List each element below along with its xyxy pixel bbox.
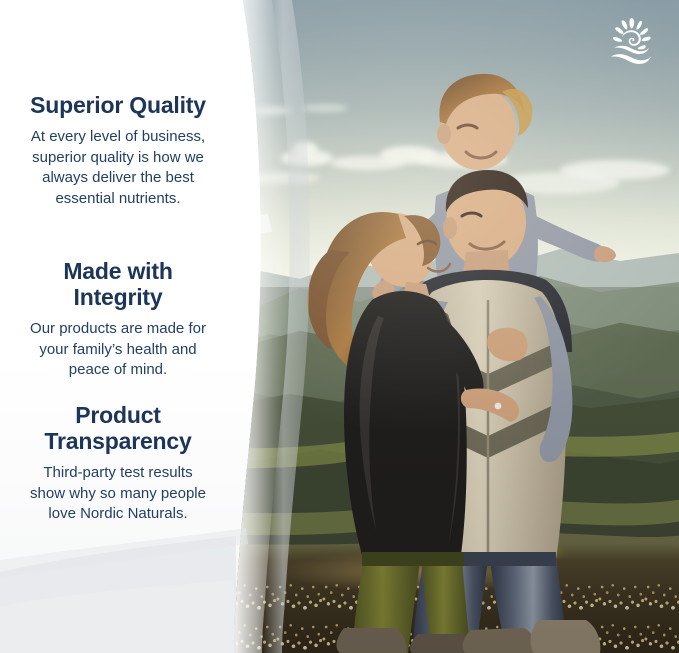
value-propositions-column: Superior Quality At every level of busin… [0,0,236,653]
value-block-made-with-integrity: Made with Integrity Our products are mad… [0,258,236,381]
value-title: Made with Integrity [0,258,236,310]
value-title: Superior Quality [0,92,236,118]
value-body: Third-party test results show why so man… [0,463,236,525]
value-block-superior-quality: Superior Quality At every level of busin… [0,92,236,210]
value-body: At every level of business, superior qua… [0,127,236,210]
value-block-product-transparency: Product Transparency Third-party test re… [0,402,236,525]
promo-banner: Superior Quality At every level of busin… [0,0,679,653]
value-title: Product Transparency [0,402,236,454]
value-body: Our products are made for your family’s … [0,319,236,381]
nordic-naturals-sun-wave-logo [601,16,661,70]
